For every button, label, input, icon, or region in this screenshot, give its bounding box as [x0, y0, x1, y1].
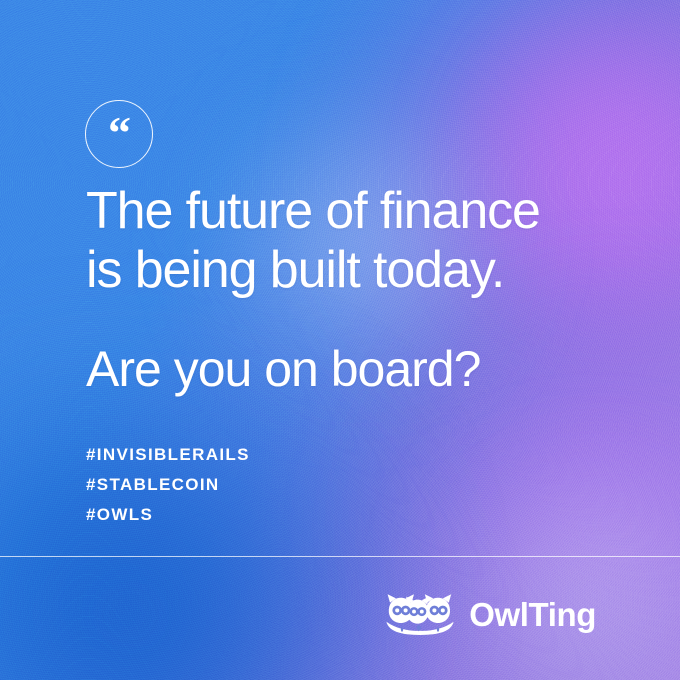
brand-lockup: OwlTing [384, 593, 596, 635]
brand-wordmark: OwlTing [469, 598, 596, 631]
card-content: “ The future of finance is being built t… [0, 0, 680, 680]
hashtag-item[interactable]: #STABLECOIN [86, 470, 250, 500]
quote-mark-icon: “ [86, 110, 152, 156]
quote-badge: “ [85, 100, 153, 168]
hashtag-item[interactable]: #OWLS [86, 500, 250, 530]
headline-line-1: The future of finance [86, 182, 626, 241]
hashtag-list: #INVISIBLERAILS #STABLECOIN #OWLS [86, 440, 250, 530]
footer-divider [0, 556, 680, 557]
social-card: “ The future of finance is being built t… [0, 0, 680, 680]
hashtag-item[interactable]: #INVISIBLERAILS [86, 440, 250, 470]
owl-logo-icon [384, 593, 456, 635]
headline: The future of finance is being built tod… [86, 182, 626, 301]
headline-line-2: is being built today. [86, 241, 626, 300]
subline-question: Are you on board? [86, 341, 480, 398]
